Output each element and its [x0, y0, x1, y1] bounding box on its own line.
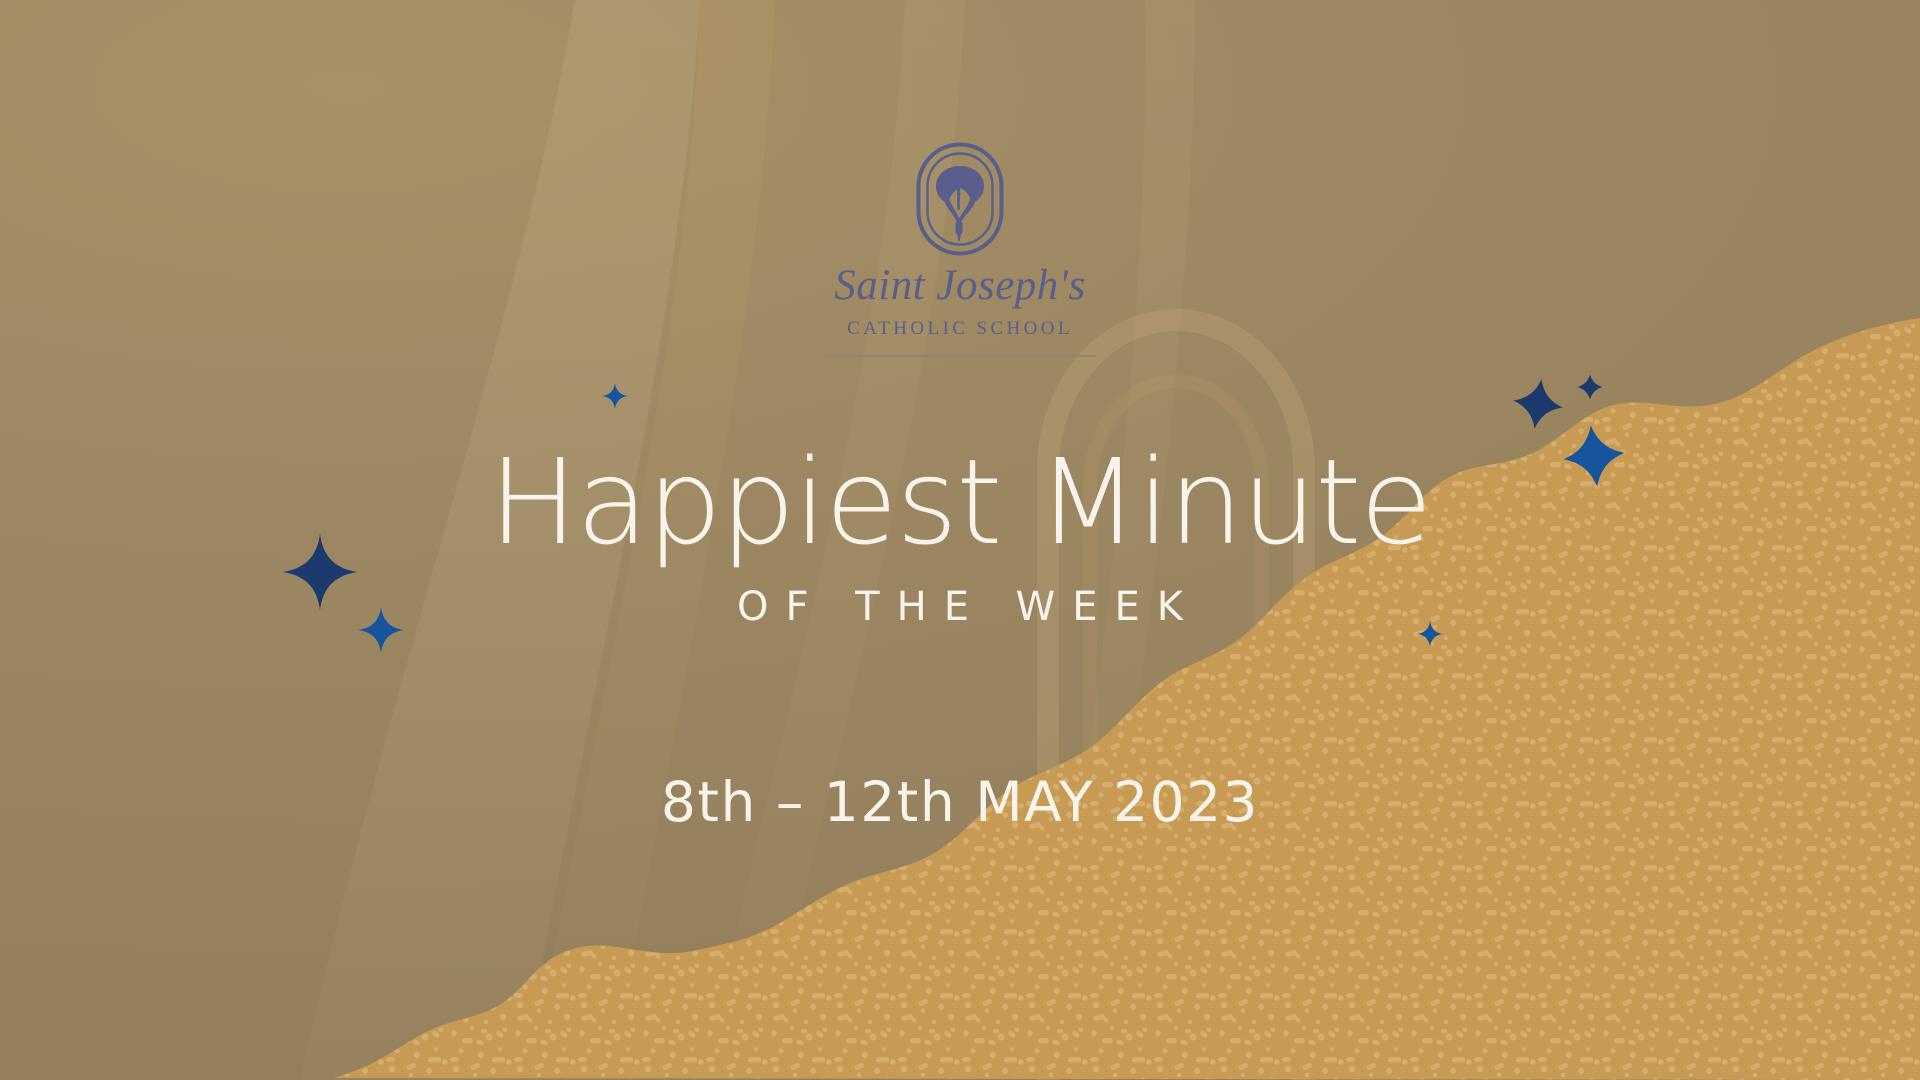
date-range: 8th – 12th MAY 2023	[0, 775, 1920, 830]
page-subtitle: OF THE WEEK	[720, 587, 1200, 627]
sparkle-left-medium	[358, 607, 404, 653]
sparkle-bottom-right-small	[1417, 621, 1443, 647]
sparkle-right-upper	[1509, 375, 1568, 434]
lily-emblem-icon	[914, 140, 1006, 258]
logo-school-subtitle: CATHOLIC SCHOOL	[847, 319, 1073, 338]
logo-divider	[824, 355, 1096, 357]
page-title: Happiest Minute	[489, 443, 1431, 561]
logo-school-name: Saint Joseph's	[834, 264, 1085, 307]
poster-canvas: Saint Joseph's CATHOLIC SCHOOL Happiest …	[0, 0, 1920, 1080]
sparkle-top-left-small	[602, 383, 628, 409]
sparkle-right-tiny	[1577, 374, 1603, 400]
sparkle-left-large	[282, 534, 358, 610]
school-logo: Saint Joseph's CATHOLIC SCHOOL	[0, 140, 1920, 357]
sparkle-right-large	[1559, 421, 1629, 491]
